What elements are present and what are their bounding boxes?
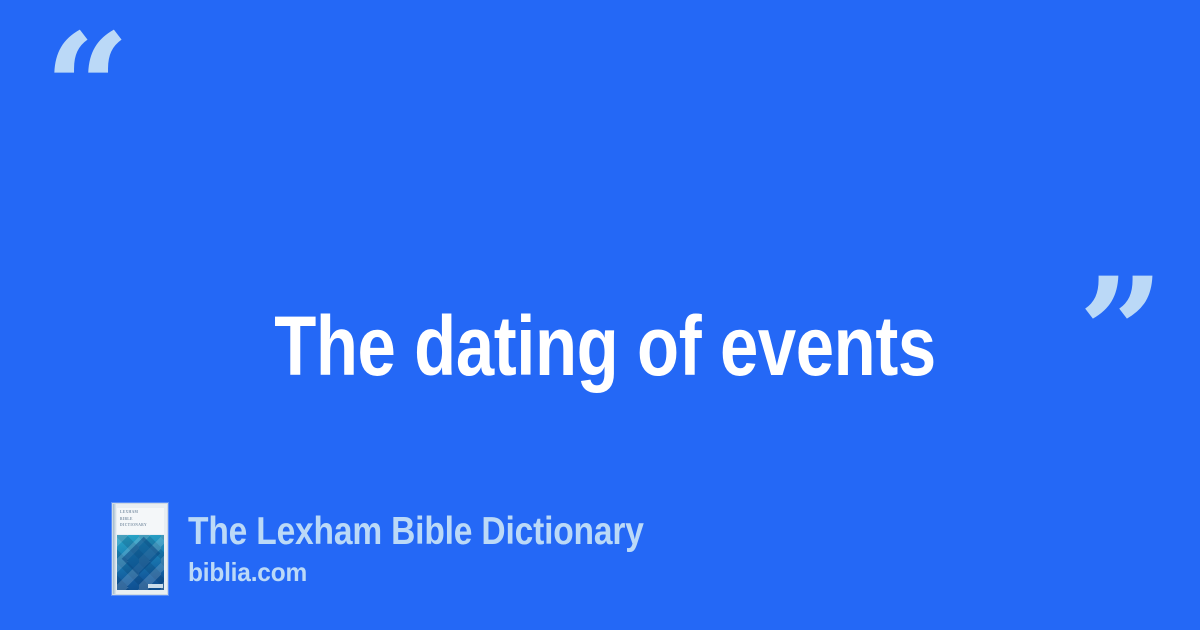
quote-line: The dating of events [232, 290, 978, 402]
book-cover-title-block: LEXHAM BIBLE DICTIONARY [117, 508, 164, 534]
brand-title: The Lexham Bible Dictionary [188, 511, 644, 553]
closing-quote-icon: ” [1078, 258, 1164, 408]
quote-card: “ The dating of events narrated in the O… [0, 0, 1200, 630]
brand-text-block: The Lexham Bible Dictionary biblia.com [188, 511, 718, 587]
brand-site-link[interactable]: biblia.com [188, 557, 686, 587]
quote-line: narrated in the Old [232, 626, 978, 630]
book-cover-publisher-badge [148, 584, 163, 588]
book-cover-title-line: DICTIONARY [117, 521, 164, 529]
book-cover-diamond [121, 537, 160, 576]
book-spine [113, 504, 116, 594]
opening-quote-icon: “ [44, 14, 130, 164]
book-cover-artwork [117, 535, 164, 590]
book-cover-icon: LEXHAM BIBLE DICTIONARY [112, 503, 168, 595]
branding-block: LEXHAM BIBLE DICTIONARY The Lexham Bible… [112, 503, 718, 595]
